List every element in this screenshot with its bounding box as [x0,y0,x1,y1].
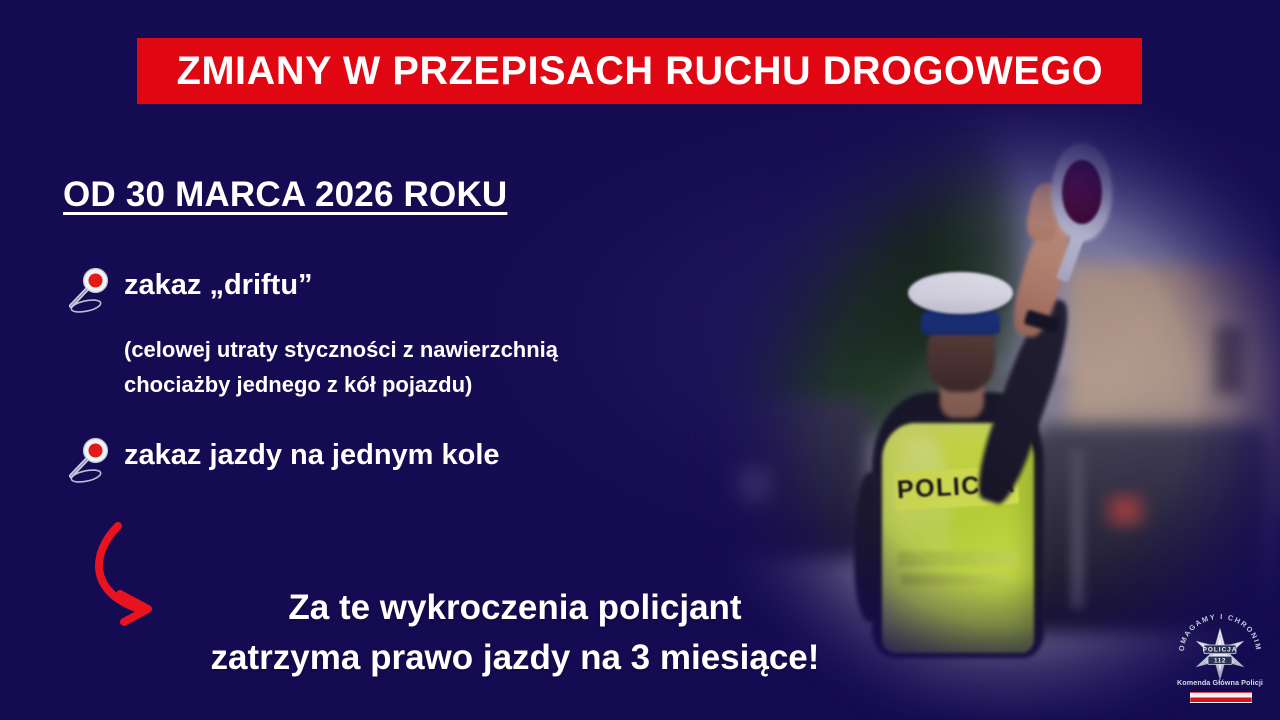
photo-building-window [1215,326,1245,394]
bullet-explanation: (celowej utraty styczności z nawierzchni… [124,333,558,403]
photo-car-right-taillight [1102,492,1150,529]
penalty-message-line-1: Za te wykroczenia policjant [120,583,910,633]
list-item: zakaz „driftu” [62,264,313,312]
bullet-explanation-line-1: (celowej utraty styczności z nawierzchni… [124,333,558,368]
police-logo: POMAGAMY I CHRONIMY POLICJA 112 Komenda … [1168,612,1272,712]
officer-peaked-cap [908,272,1013,314]
police-baton-icon [62,436,114,484]
police-baton-icon [62,266,114,314]
effective-date-heading: OD 30 MARCA 2026 ROKU [63,175,507,215]
list-item-label: zakaz „driftu” [124,270,313,302]
list-item: zakaz jazdy na jednym kole [62,434,500,482]
header-banner: ZMIANY W PRZEPISACH RUCHU DROGOWEGO [137,38,1142,104]
svg-text:112: 112 [1214,658,1226,665]
bullet-explanation-line-2: chociażby jednego z kół pojazdu) [124,368,558,403]
officer-vest-reflective-strip-2 [901,574,1011,586]
infographic-canvas: POLICJA ZMIANY W PRZEPISACH RUCH [0,0,1280,720]
banner-title: ZMIANY W PRZEPISACH RUCHU DROGOWEGO [176,51,1102,91]
photo-car-left-headlight [722,461,775,510]
penalty-message: Za te wykroczenia policjant zatrzyma pra… [120,583,910,682]
traffic-baton-center [1062,160,1102,224]
traffic-baton-icon [1052,143,1112,241]
polish-flag-bar [1190,692,1252,703]
logo-caption: Komenda Główna Policji [1168,678,1272,687]
svg-text:POLICJA: POLICJA [1203,646,1238,653]
penalty-message-line-2: zatrzyma prawo jazdy na 3 miesiące! [120,633,910,683]
list-item-label: zakaz jazdy na jednym kole [124,440,500,472]
officer-vest-reflective-strip [898,551,1018,565]
